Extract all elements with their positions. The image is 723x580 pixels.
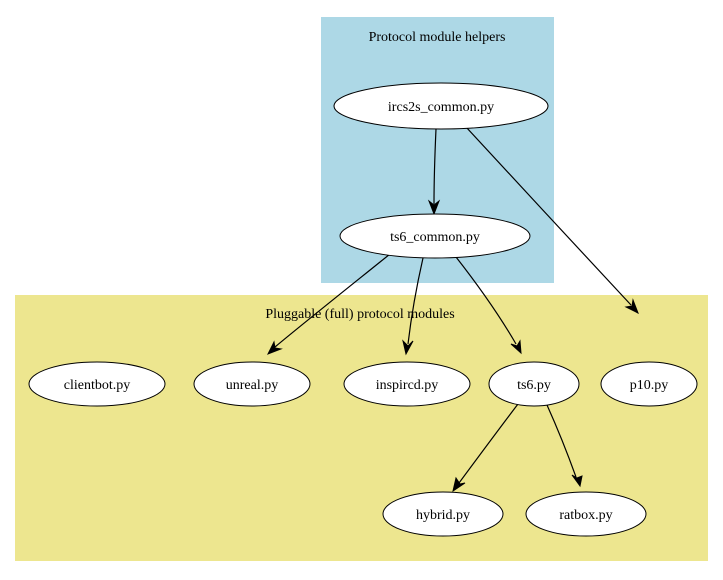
node-label: ircs2s_common.py: [388, 100, 494, 115]
dependency-graph: Protocol module helpers Pluggable (full)…: [0, 0, 723, 580]
node-label: ratbox.py: [559, 508, 612, 523]
node-label: hybrid.py: [416, 508, 470, 523]
node-p10[interactable]: p10.py: [601, 362, 697, 406]
node-label: p10.py: [630, 378, 669, 393]
node-inspircd[interactable]: inspircd.py: [344, 362, 470, 406]
node-ratbox[interactable]: ratbox.py: [526, 492, 646, 536]
node-ts6_common[interactable]: ts6_common.py: [340, 214, 530, 258]
node-clientbot[interactable]: clientbot.py: [29, 362, 165, 406]
node-label: unreal.py: [226, 378, 278, 393]
node-label: inspircd.py: [376, 378, 439, 393]
node-label: ts6_common.py: [390, 230, 480, 245]
node-label: ts6.py: [517, 378, 551, 393]
node-hybrid[interactable]: hybrid.py: [383, 492, 503, 536]
cluster-pluggable-label: Pluggable (full) protocol modules: [265, 307, 454, 322]
node-label: clientbot.py: [64, 378, 131, 393]
cluster-helpers-label: Protocol module helpers: [369, 30, 506, 45]
node-unreal[interactable]: unreal.py: [194, 362, 310, 406]
node-ircs2s_common[interactable]: ircs2s_common.py: [334, 83, 548, 129]
node-ts6[interactable]: ts6.py: [489, 362, 579, 406]
graph-canvas: Protocol module helpers Pluggable (full)…: [0, 0, 723, 580]
